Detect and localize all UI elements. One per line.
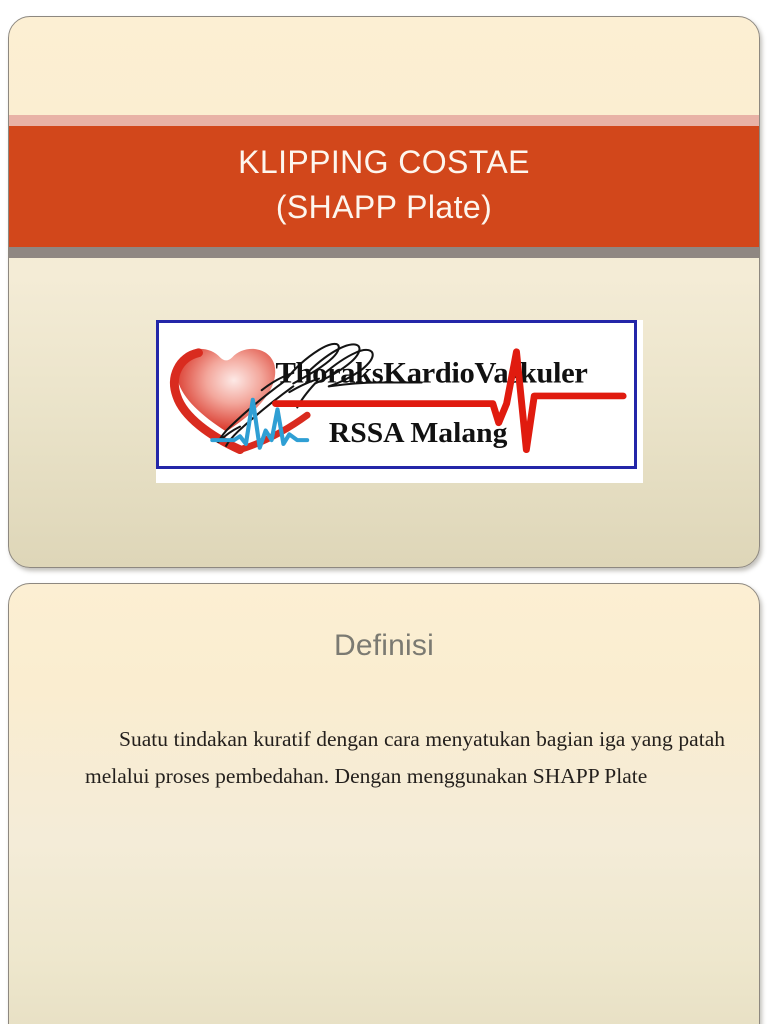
- slide-deck-page: KLIPPING COSTAE (SHAPP Plate): [0, 0, 768, 1024]
- logo-text-line-1: ThoraksKardioVaskuler: [276, 356, 588, 390]
- page-title-line-1: KLIPPING COSTAE: [9, 140, 759, 185]
- page-title-line-2: (SHAPP Plate): [9, 185, 759, 230]
- title-band-gray-stripe: [9, 247, 759, 258]
- title-band: KLIPPING COSTAE (SHAPP Plate): [9, 115, 759, 258]
- logo-image-block[interactable]: ThoraksKardioVaskuler RSSA Malang: [156, 320, 643, 483]
- definisi-heading: Definisi: [9, 629, 759, 663]
- logo-frame: ThoraksKardioVaskuler RSSA Malang: [156, 320, 637, 469]
- title-band-orange: KLIPPING COSTAE (SHAPP Plate): [9, 126, 759, 247]
- definisi-slide[interactable]: Definisi Suatu tindakan kuratif dengan c…: [8, 583, 760, 1024]
- title-band-pink-stripe: [9, 115, 759, 126]
- thoraks-kardio-vaskuler-logo-graphic: ThoraksKardioVaskuler RSSA Malang: [159, 323, 634, 466]
- title-slide[interactable]: KLIPPING COSTAE (SHAPP Plate): [8, 16, 760, 568]
- definisi-body-text: Suatu tindakan kuratif dengan cara menya…: [85, 721, 725, 795]
- logo-text-line-2: RSSA Malang: [329, 417, 508, 449]
